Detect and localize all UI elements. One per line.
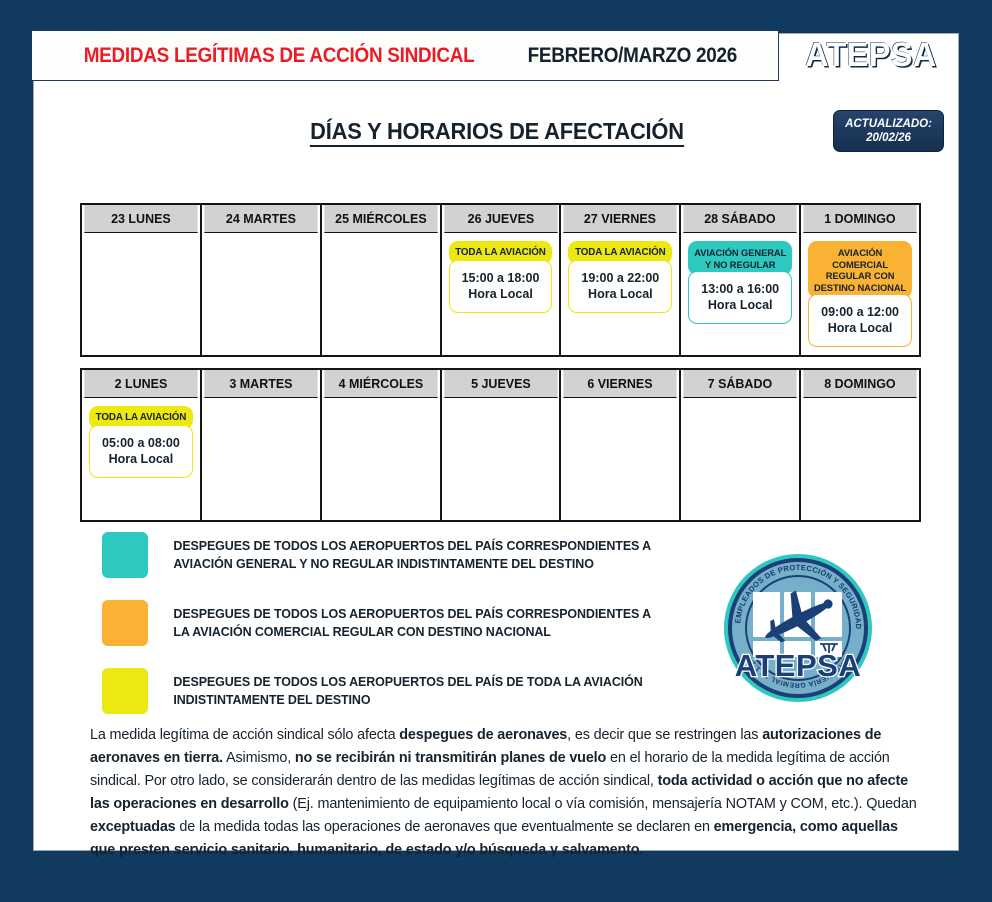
affectation-time-note: Hora Local: [92, 451, 190, 467]
legend-color-swatch: [102, 532, 148, 578]
paragraph-text: de la medida todas las operaciones de ae…: [176, 819, 714, 835]
legend-color-swatch: [102, 600, 148, 646]
calendar-day-body: [681, 398, 799, 520]
calendar-day-cell: 24 MARTES: [202, 205, 322, 357]
legend-description: DESPEGUES DE TODOS LOS AEROPUERTOS DEL P…: [173, 673, 642, 709]
atepsa-logo-icon: ASOCIACIÓN TÉCNICOS Y EMPLEADOS DE PROTE…: [722, 552, 874, 704]
paragraph-text: , es decir que se restringen las: [567, 727, 762, 743]
affectation-time-note: Hora Local: [691, 297, 789, 313]
calendar-day-header: 3 MARTES: [204, 370, 317, 398]
calendar-day-cell: 5 JUEVES: [442, 370, 562, 522]
calendar-day-body: [801, 398, 919, 520]
paragraph-text: La medida legítima de acción sindical só…: [90, 727, 399, 743]
calendar-day-header: 8 DOMINGO: [803, 370, 916, 398]
calendar-day-header: 6 VIERNES: [564, 370, 677, 398]
title-row: DÍAS Y HORARIOS DE AFECTACIÓN: [34, 102, 960, 162]
calendar-day-header: 26 JUEVES: [444, 205, 557, 233]
page-title: DÍAS Y HORARIOS DE AFECTACIÓN: [57, 118, 937, 145]
calendar-day-body: [322, 398, 440, 520]
affectation-type-badge: AVIACIÓN COMERCIAL REGULAR CON DESTINO N…: [808, 241, 912, 298]
updated-badge: ACTUALIZADO: 20/02/26: [833, 110, 944, 152]
legend-line-1: DESPEGUES DE TODOS LOS AEROPUERTOS DEL P…: [173, 537, 651, 555]
calendar-day-cell: 8 DOMINGO: [801, 370, 921, 522]
affectation-time-note: Hora Local: [452, 286, 550, 302]
header-title-box: MEDIDAS LEGÍTIMAS DE ACCIÓN SINDICAL FEB…: [31, 30, 779, 81]
calendar-day-header: 24 MARTES: [204, 205, 317, 233]
calendar-week-2: 2 LUNESTODA LA AVIACIÓN05:00 a 08:00Hora…: [80, 368, 921, 522]
calendar-day-body: TODA LA AVIACIÓN19:00 a 22:00Hora Local: [561, 233, 679, 355]
calendar-day-cell: 7 SÁBADO: [681, 370, 801, 522]
calendar-day-body: AVIACIÓN GENERAL Y NO REGULAR13:00 a 16:…: [681, 233, 799, 355]
calendar-day-body: AVIACIÓN COMERCIAL REGULAR CON DESTINO N…: [801, 233, 919, 355]
calendar-day-cell: 23 LUNES: [82, 205, 202, 357]
calendar-day-header: 5 JUEVES: [444, 370, 557, 398]
calendar-day-cell: 27 VIERNESTODA LA AVIACIÓN19:00 a 22:00H…: [561, 205, 681, 357]
paragraph-text: (Ej. mantenimiento de equipamiento local…: [289, 796, 917, 812]
legend-item: DESPEGUES DE TODOS LOS AEROPUERTOS DEL P…: [102, 600, 702, 646]
calendar-week-1: 23 LUNES24 MARTES25 MIÉRCOLES26 JUEVESTO…: [80, 203, 921, 357]
paragraph-text: Asimismo,: [223, 750, 295, 766]
calendar-day-header: 4 MIÉRCOLES: [324, 370, 437, 398]
legend-item: DESPEGUES DE TODOS LOS AEROPUERTOS DEL P…: [102, 668, 702, 714]
affectation-time-range: 19:00 a 22:00: [571, 270, 669, 286]
calendar-day-body: TODA LA AVIACIÓN05:00 a 08:00Hora Local: [82, 398, 200, 520]
legend-line-2: LA AVIACIÓN COMERCIAL REGULAR CON DESTIN…: [173, 623, 651, 641]
legend-line-2: AVIACIÓN GENERAL Y NO REGULAR INDISTINTA…: [173, 555, 651, 573]
affectation-timebox: 09:00 a 12:00Hora Local: [808, 294, 912, 347]
affectation-type-badge: AVIACIÓN GENERAL Y NO REGULAR: [688, 241, 792, 275]
affectation-timebox: 13:00 a 16:00Hora Local: [688, 271, 792, 324]
disclaimer-paragraph: La medida legítima de acción sindical só…: [90, 724, 978, 862]
brand-logotype: ATEPSA: [784, 30, 959, 81]
header-title-red: MEDIDAS LEGÍTIMAS DE ACCIÓN SINDICAL: [83, 44, 474, 68]
calendar-day-header: 23 LUNES: [84, 205, 197, 233]
calendar-day-cell: 3 MARTES: [202, 370, 322, 522]
calendar-day-cell: 6 VIERNES: [561, 370, 681, 522]
legend-line-1: DESPEGUES DE TODOS LOS AEROPUERTOS DEL P…: [173, 605, 651, 623]
calendar-day-body: [82, 233, 200, 355]
legend-line-1: DESPEGUES DE TODOS LOS AEROPUERTOS DEL P…: [173, 673, 642, 691]
calendar-day-cell: 2 LUNESTODA LA AVIACIÓN05:00 a 08:00Hora…: [82, 370, 202, 522]
legend-description: DESPEGUES DE TODOS LOS AEROPUERTOS DEL P…: [173, 605, 651, 641]
calendar-day-header: 27 VIERNES: [564, 205, 677, 233]
calendar-day-cell: 1 DOMINGOAVIACIÓN COMERCIAL REGULAR CON …: [801, 205, 921, 357]
calendar-day-body: [442, 398, 560, 520]
header-title-period: FEBRERO/MARZO 2026: [527, 44, 736, 68]
calendar-day-header: 25 MIÉRCOLES: [324, 205, 437, 233]
legend-line-2: INDISTINTAMENTE DEL DESTINO: [173, 691, 642, 709]
calendar-day-header: 2 LUNES: [84, 370, 197, 398]
affectation-timebox: 19:00 a 22:00Hora Local: [568, 260, 672, 313]
calendar-day-body: [202, 233, 320, 355]
affectation-time-range: 15:00 a 18:00: [452, 270, 550, 286]
affectation-timebox: 15:00 a 18:00Hora Local: [449, 260, 553, 313]
calendar-day-cell: 25 MIÉRCOLES: [322, 205, 442, 357]
affectation-time-range: 09:00 a 12:00: [811, 304, 909, 320]
updated-date: 20/02/26: [866, 131, 911, 145]
affectation-time-range: 05:00 a 08:00: [92, 435, 190, 451]
calendar-day-header: 28 SÁBADO: [684, 205, 797, 233]
calendar-day-body: [202, 398, 320, 520]
calendar-day-cell: 4 MIÉRCOLES: [322, 370, 442, 522]
updated-label: ACTUALIZADO:: [845, 117, 932, 131]
calendar-day-body: TODA LA AVIACIÓN15:00 a 18:00Hora Local: [442, 233, 560, 355]
calendar-day-header: 1 DOMINGO: [803, 205, 916, 233]
svg-text:ATEPSA: ATEPSA: [735, 648, 861, 683]
legend-description: DESPEGUES DE TODOS LOS AEROPUERTOS DEL P…: [173, 537, 651, 573]
affectation-time-note: Hora Local: [811, 320, 909, 336]
calendar-day-cell: 26 JUEVESTODA LA AVIACIÓN15:00 a 18:00Ho…: [442, 205, 562, 357]
affectation-time-range: 13:00 a 16:00: [691, 281, 789, 297]
affectation-timebox: 05:00 a 08:00Hora Local: [89, 425, 193, 478]
paragraph-emphasis: exceptuadas: [90, 819, 176, 835]
calendar-day-cell: 28 SÁBADOAVIACIÓN GENERAL Y NO REGULAR13…: [681, 205, 801, 357]
paragraph-emphasis: despegues de aeronaves: [399, 727, 567, 743]
calendar-day-header: 7 SÁBADO: [684, 370, 797, 398]
legend-color-swatch: [102, 668, 148, 714]
calendar-day-body: [561, 398, 679, 520]
legend-item: DESPEGUES DE TODOS LOS AEROPUERTOS DEL P…: [102, 532, 702, 578]
atepsa-logo: ASOCIACIÓN TÉCNICOS Y EMPLEADOS DE PROTE…: [722, 552, 874, 704]
poster-card: MEDIDAS LEGÍTIMAS DE ACCIÓN SINDICAL FEB…: [33, 33, 959, 851]
header-bar: MEDIDAS LEGÍTIMAS DE ACCIÓN SINDICAL FEB…: [31, 30, 963, 81]
calendar-day-body: [322, 233, 440, 355]
legend: DESPEGUES DE TODOS LOS AEROPUERTOS DEL P…: [102, 532, 702, 736]
affectation-time-note: Hora Local: [571, 286, 669, 302]
paragraph-emphasis: no se recibirán ni transmitirán planes d…: [295, 750, 606, 766]
page-title-text: DÍAS Y HORARIOS DE AFECTACIÓN: [310, 118, 684, 147]
